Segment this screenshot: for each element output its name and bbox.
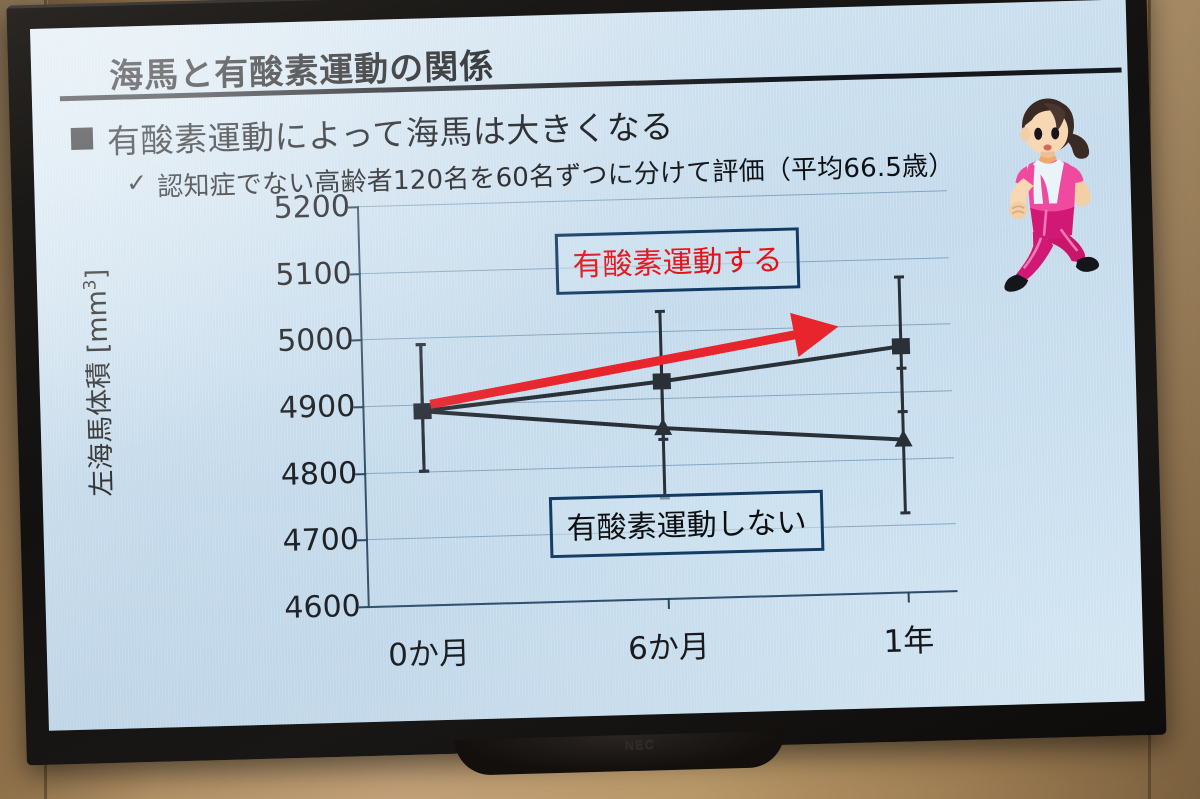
y-axis-tick-labels: 5200510050004900480047004600	[185, 206, 361, 610]
check-icon: ✓	[126, 171, 148, 197]
bullet-label: 有酸素運動によって海馬は大きくなる	[106, 100, 674, 163]
y-axis-title: 左海馬体積 [mm3]	[73, 237, 120, 528]
square-bullet-icon	[71, 127, 94, 150]
y-tick-label: 4700	[282, 522, 359, 559]
y-tick-label: 4800	[280, 456, 357, 493]
y-tick-label: 5100	[275, 256, 352, 293]
callout-no-exercise: 有酸素運動しない	[549, 490, 825, 558]
display-screen: 海馬と有酸素運動の関係 有酸素運動によって海馬は大きくなる ✓ 認知症でない高齢…	[30, 0, 1145, 731]
screenshot-root: NEC 海馬と有酸素運動の関係 有酸素運動によって海馬は大きくなる ✓ 認知症で…	[0, 0, 1200, 799]
x-tick-label: 0か月	[388, 627, 471, 674]
tv-stand	[454, 731, 785, 776]
hippocampus-volume-chart: 左海馬体積 [mm3] 5200510050004900480047004600	[35, 185, 1143, 684]
x-tick-mark	[668, 598, 670, 609]
y-tick-label: 4900	[279, 389, 356, 426]
y-tick-label: 5200	[273, 189, 350, 226]
y-tick-label: 5000	[277, 322, 354, 359]
x-tick-mark	[908, 591, 910, 602]
running-woman-icon	[977, 96, 1123, 310]
brand-logo: NEC	[624, 736, 655, 752]
presentation-slide: 海馬と有酸素運動の関係 有酸素運動によって海馬は大きくなる ✓ 認知症でない高齢…	[30, 0, 1145, 731]
x-tick-label: 1年	[883, 615, 935, 661]
callout-exercise: 有酸素運動する	[555, 227, 801, 295]
television: NEC 海馬と有酸素運動の関係 有酸素運動によって海馬は大きくなる ✓ 認知症で…	[0, 0, 1180, 792]
y-tick-mark	[359, 606, 370, 608]
y-tick-label: 4600	[284, 589, 361, 626]
x-tick-label: 6か月	[627, 621, 710, 668]
